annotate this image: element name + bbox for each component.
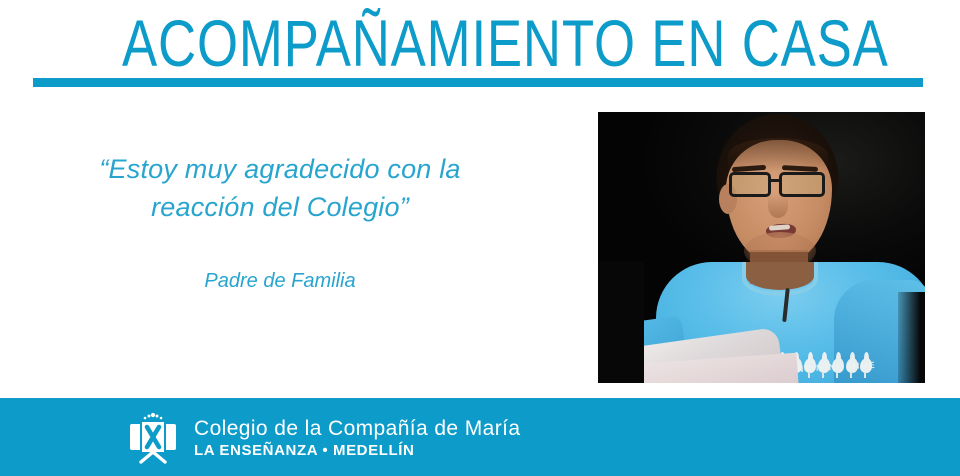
- school-logo-icon: [126, 410, 180, 466]
- title-underline-bar: [33, 78, 923, 87]
- slide-root: ACOMPAÑAMIENTO EN CASA “Estoy muy agrade…: [0, 0, 960, 476]
- photo-shadow-left: [598, 262, 644, 383]
- quote-line-2: reacción del Colegio”: [20, 188, 540, 226]
- glasses-lens-left: [729, 172, 771, 197]
- photo-shadow-right: [898, 292, 925, 383]
- school-name: Colegio de la Compañía de María: [194, 416, 520, 441]
- footer-name-block: Colegio de la Compañía de María LA ENSEÑ…: [194, 416, 520, 461]
- portrait-photo: MINE MINE MINE MINE MINE: [598, 112, 925, 383]
- footer-brand: Colegio de la Compañía de María LA ENSEÑ…: [126, 410, 520, 466]
- glasses-bridge: [770, 179, 781, 182]
- header-block: ACOMPAÑAMIENTO EN CASA: [0, 0, 960, 96]
- page-title: ACOMPAÑAMIENTO EN CASA: [122, 8, 834, 78]
- quote-block: “Estoy muy agradecido con la reacción de…: [20, 150, 540, 294]
- quote-attribution: Padre de Familia: [20, 226, 540, 294]
- footer-bar: Colegio de la Compañía de María LA ENSEÑ…: [0, 398, 960, 476]
- shirt-collar-rim: [742, 262, 818, 296]
- nose: [768, 194, 788, 218]
- quote-line-1: “Estoy muy agradecido con la: [20, 150, 540, 188]
- school-campus: LA ENSEÑANZA • MEDELLÍN: [194, 441, 520, 461]
